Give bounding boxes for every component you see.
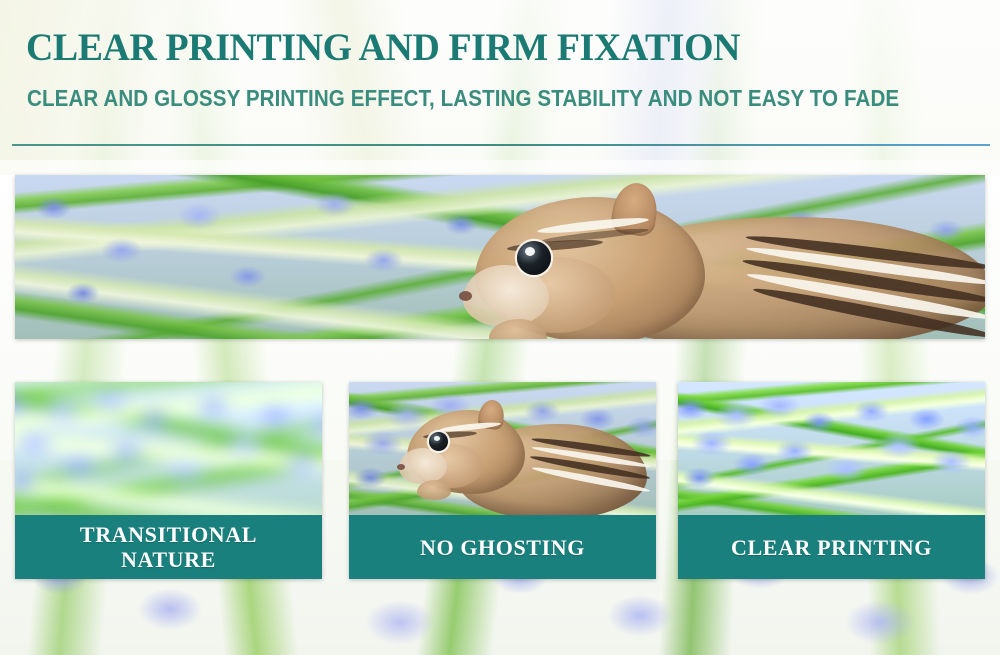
feature-card-1-image [15,382,322,515]
feature-card-3-label-band: CLEAR PRINTING [678,515,985,579]
feature-card-2-image [349,382,656,515]
feature-card-clear-printing[interactable]: CLEAR PRINTING [678,382,985,579]
feature-card-1-label-band: TRANSITIONAL NATURE [15,515,322,579]
feature-card-2-label-band: NO GHOSTING [349,515,656,579]
page-subtitle: CLEAR AND GLOSSY PRINTING EFFECT, LASTIN… [27,85,899,111]
page-title: CLEAR PRINTING AND FIRM FIXATION [26,27,740,69]
card-chipmunk [391,388,641,515]
product-feature-banner: CLEAR PRINTING AND FIRM FIXATION CLEAR A… [0,0,1000,655]
feature-card-3-image [678,382,985,515]
feature-card-2-label: NO GHOSTING [412,535,593,560]
hero-chipmunk [445,175,985,339]
feature-card-3-label: CLEAR PRINTING [723,535,940,560]
feature-card-1-label: TRANSITIONAL NATURE [72,522,265,572]
feature-card-no-ghosting[interactable]: NO GHOSTING [349,382,656,579]
feature-card-transitional-nature[interactable]: TRANSITIONAL NATURE [15,382,322,579]
hero-image [15,175,985,339]
header-divider [12,144,990,146]
blurred-meadow-scene [15,382,322,515]
crisp-meadow-scene [678,382,985,515]
